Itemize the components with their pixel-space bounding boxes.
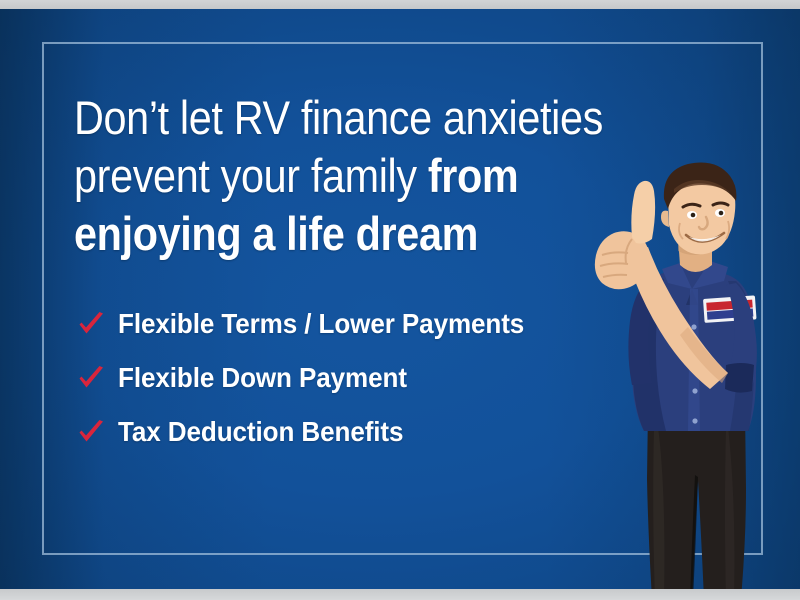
headline-line-3: enjoying a life dream <box>74 205 602 263</box>
headline-line-2-light-text: prevent your family <box>74 149 428 202</box>
benefits-list: Flexible Terms / Lower Payments Flexible… <box>76 297 555 459</box>
headline-line-1-text: Don’t let RV finance anxieties <box>74 91 603 144</box>
list-item-label: Flexible Down Payment <box>118 362 407 394</box>
list-item: Flexible Down Payment <box>76 351 555 405</box>
list-item-label: Flexible Terms / Lower Payments <box>118 308 524 340</box>
letterbox-band-bottom <box>0 589 800 600</box>
rolled-cuff <box>725 363 754 393</box>
list-item: Tax Deduction Benefits <box>76 405 555 459</box>
salesman-thumbs-up-illustration <box>540 159 800 589</box>
banner-background: Don’t let RV finance anxieties prevent y… <box>0 9 800 589</box>
check-icon <box>76 310 106 340</box>
rv-finance-promo-banner: Don’t let RV finance anxieties prevent y… <box>0 0 800 600</box>
headline-line-2-bold-text: from <box>428 149 519 202</box>
letterbox-band-top <box>0 0 800 9</box>
list-item: Flexible Terms / Lower Payments <box>76 297 555 351</box>
list-item-label: Tax Deduction Benefits <box>118 416 403 448</box>
headline: Don’t let RV finance anxieties prevent y… <box>74 89 602 263</box>
headline-line-3-bold-text: enjoying a life dream <box>74 207 478 260</box>
headline-line-1: Don’t let RV finance anxieties <box>74 89 602 147</box>
headline-line-2: prevent your family from <box>74 147 602 205</box>
check-icon <box>76 418 106 448</box>
check-icon <box>76 364 106 394</box>
